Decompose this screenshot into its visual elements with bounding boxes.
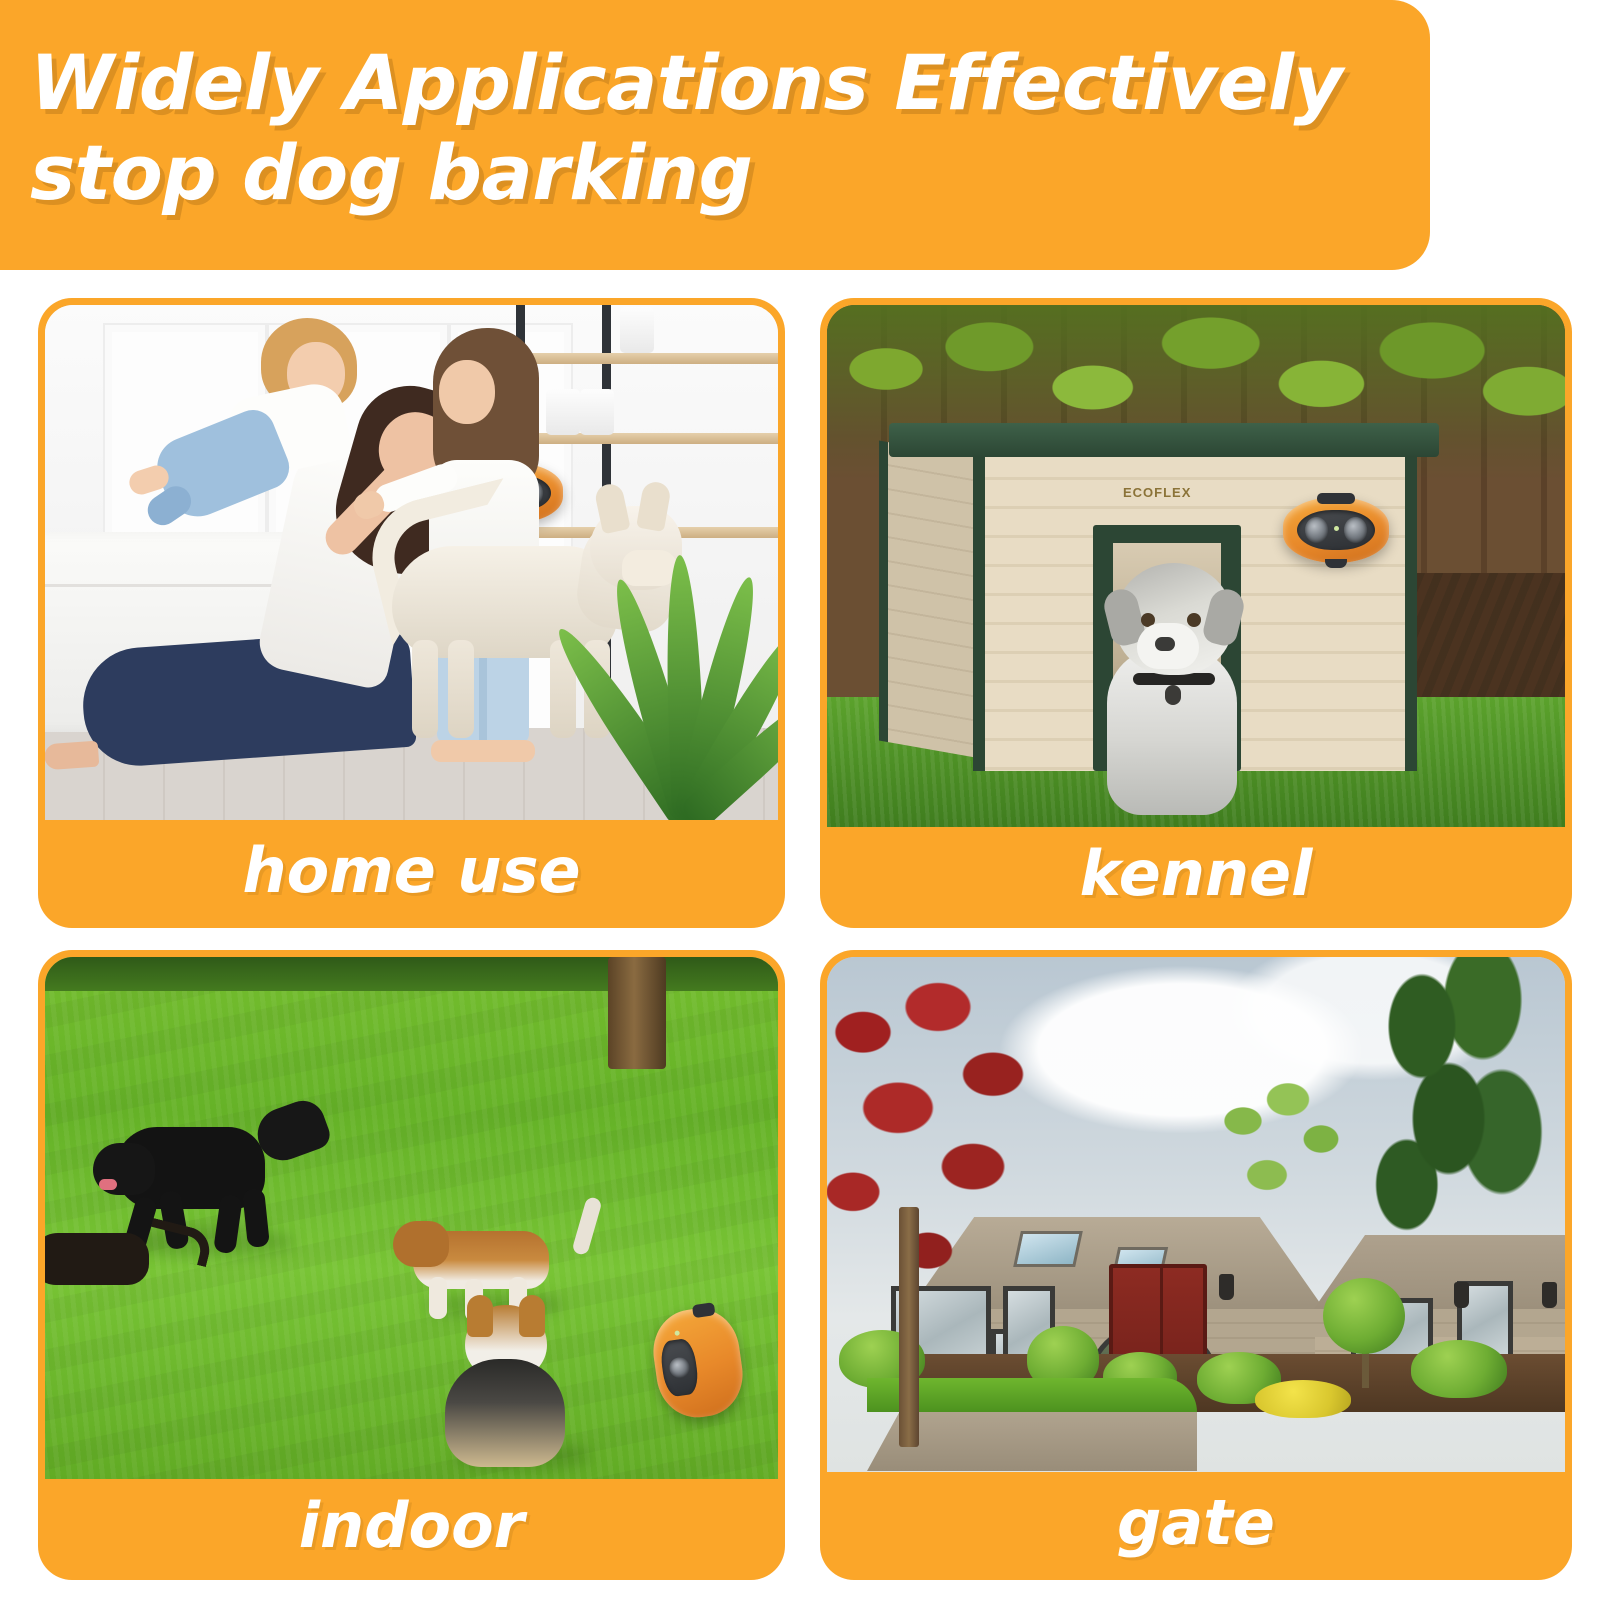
scene-suburban-house [827, 957, 1565, 1472]
child-toddler [165, 318, 375, 534]
dog-leg [412, 640, 438, 738]
dog-tongue [99, 1179, 117, 1190]
dog-ear [467, 1295, 493, 1337]
device-status-led [1334, 526, 1339, 531]
device-antenna [692, 1302, 716, 1318]
device-front-panel [659, 1338, 701, 1398]
porch-lamp [1454, 1282, 1469, 1308]
device-speaker-cone [1344, 517, 1368, 543]
panel-home-use[interactable]: home use [38, 298, 785, 928]
dog-leg [242, 1188, 270, 1248]
panel-indoor[interactable]: indoor [38, 950, 785, 1580]
girl-face [439, 360, 495, 424]
caption-kennel: kennel [827, 827, 1565, 928]
panel-kennel[interactable]: ECOFLEX [820, 298, 1572, 928]
corgi-dog [443, 1305, 593, 1471]
device-antenna [1317, 493, 1355, 504]
scene-home-use-living-room [45, 305, 778, 820]
caption-gate: gate [827, 1472, 1565, 1580]
device-speaker-cone [1305, 517, 1329, 543]
porch-lamp [1219, 1274, 1234, 1300]
device-status-led [674, 1331, 680, 1337]
page-title: Widely Applications Effectively stop dog… [30, 38, 1390, 217]
dog-leg [448, 640, 474, 738]
device-mount-foot [1325, 559, 1346, 568]
dog-house-brand-label: ECOFLEX [1123, 485, 1191, 500]
potted-plant [586, 490, 778, 820]
photo-home-use [45, 305, 778, 820]
application-panel-grid: home use ECOFLEX [38, 298, 1572, 1588]
girl-feet [431, 740, 535, 762]
dog-head [393, 1221, 449, 1267]
caption-home-use: home use [45, 820, 778, 928]
maple-trunk [899, 1207, 919, 1447]
photo-indoor [45, 957, 778, 1479]
device-speaker-cone [669, 1356, 691, 1379]
caption-indoor: indoor [45, 1479, 778, 1580]
photo-gate [827, 957, 1565, 1472]
shrub [1411, 1340, 1507, 1398]
terrier-dog [1079, 555, 1279, 815]
yellow-flower-bed [1255, 1380, 1351, 1418]
terrier-collar-tag [1165, 685, 1181, 705]
dog-ear [519, 1295, 545, 1337]
dog-body [445, 1359, 565, 1467]
panel-gate[interactable]: gate [820, 950, 1572, 1580]
tree-trunk [608, 957, 666, 1069]
header-banner: Widely Applications Effectively stop dog… [0, 0, 1430, 270]
scene-park-lawn [45, 957, 778, 1479]
red-maple-tree [827, 965, 1053, 1385]
porch-lamp [1542, 1282, 1557, 1308]
distant-treeline [45, 957, 778, 991]
terrier-eye [1187, 613, 1201, 627]
terrier-nose [1155, 637, 1175, 651]
dachshund-dog [45, 1219, 181, 1311]
dog-body [45, 1233, 149, 1285]
shelf-jar [620, 307, 654, 353]
topiary-ball [1323, 1278, 1405, 1354]
photo-kennel: ECOFLEX [827, 305, 1565, 827]
terrier-ear [1201, 586, 1248, 649]
scene-kennel-backyard: ECOFLEX [827, 305, 1565, 827]
dog-house-roof [889, 423, 1439, 457]
ultrasonic-device [1283, 497, 1389, 563]
shelf-jar [580, 389, 614, 435]
